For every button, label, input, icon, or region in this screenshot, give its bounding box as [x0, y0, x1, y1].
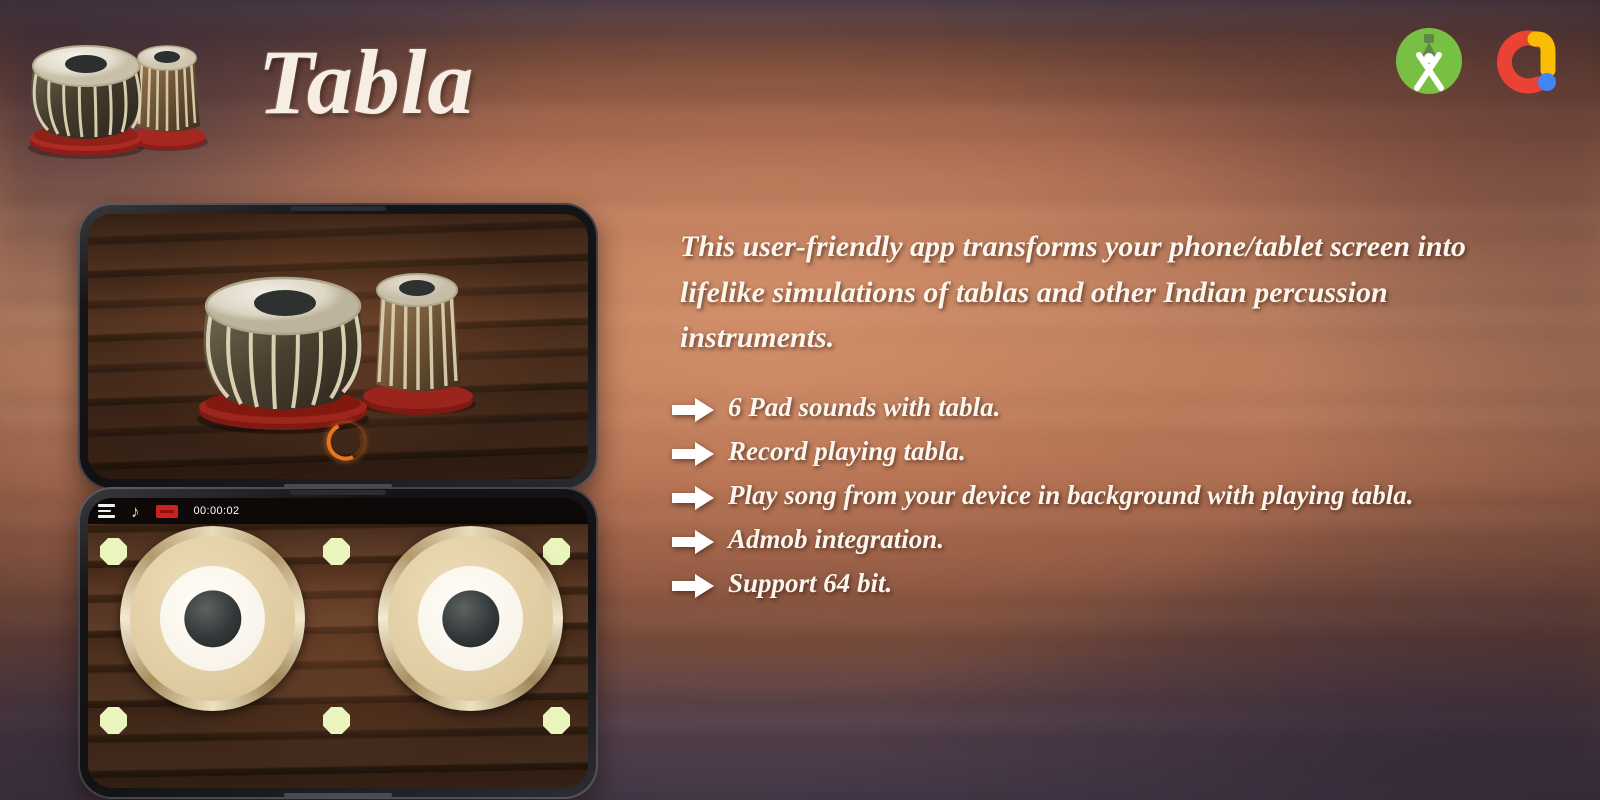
play-screen-preview: ♪ 00:00:02 — [88, 498, 588, 788]
list-item: Record playing tabla. — [672, 432, 1532, 472]
feature-label: 6 Pad sounds with tabla. — [728, 388, 1000, 428]
page-title: Tabla — [258, 36, 474, 128]
pad-bottom-right[interactable] — [543, 707, 570, 734]
pad-top-left[interactable] — [100, 538, 127, 565]
recording-timer: 00:00:02 — [194, 505, 240, 517]
arrow-right-icon — [672, 574, 714, 603]
admob-logo — [1480, 22, 1558, 100]
arrow-right-icon — [672, 530, 714, 559]
record-button-icon[interactable] — [156, 505, 178, 518]
arrow-right-icon — [672, 442, 714, 471]
pad-bottom-left[interactable] — [100, 707, 127, 734]
feature-label: Admob integration. — [728, 520, 944, 560]
splash-tabla-illustration — [173, 236, 503, 436]
feature-label: Play song from your device in background… — [728, 476, 1414, 516]
promo-banner: Tabla — [0, 0, 1600, 800]
list-item: 6 Pad sounds with tabla. — [672, 388, 1532, 428]
phone-speaker-slit — [290, 490, 386, 495]
pad-top-center[interactable] — [323, 538, 350, 565]
hamburger-menu-icon[interactable] — [98, 504, 115, 517]
list-item: Admob integration. — [672, 520, 1532, 560]
feature-label: Support 64 bit. — [728, 564, 892, 604]
phone-home-indicator — [284, 793, 392, 797]
splash-screen-preview — [88, 214, 588, 479]
music-note-icon[interactable]: ♪ — [131, 503, 140, 520]
list-item: Play song from your device in background… — [672, 476, 1532, 516]
android-studio-logo — [1390, 22, 1468, 100]
phone-mockup-play: ♪ 00:00:02 — [78, 487, 598, 799]
feature-list: 6 Pad sounds with tabla. Record playing … — [672, 388, 1532, 608]
logo-group — [1390, 22, 1558, 100]
arrow-right-icon — [672, 398, 714, 427]
phone-home-indicator — [284, 484, 392, 488]
app-status-bar: ♪ 00:00:02 — [88, 498, 588, 524]
app-description: This user-friendly app transforms your p… — [680, 224, 1520, 361]
drum-right[interactable] — [378, 526, 563, 711]
arrow-right-icon — [672, 486, 714, 515]
phone-speaker-slit — [290, 206, 386, 211]
pad-bottom-center[interactable] — [323, 707, 350, 734]
feature-label: Record playing tabla. — [728, 432, 966, 472]
phone-mockup-splash — [78, 203, 598, 490]
header-tabla-image — [8, 14, 223, 159]
pad-surface — [88, 524, 588, 788]
pad-top-right[interactable] — [543, 538, 570, 565]
list-item: Support 64 bit. — [672, 564, 1532, 604]
drum-left[interactable] — [120, 526, 305, 711]
